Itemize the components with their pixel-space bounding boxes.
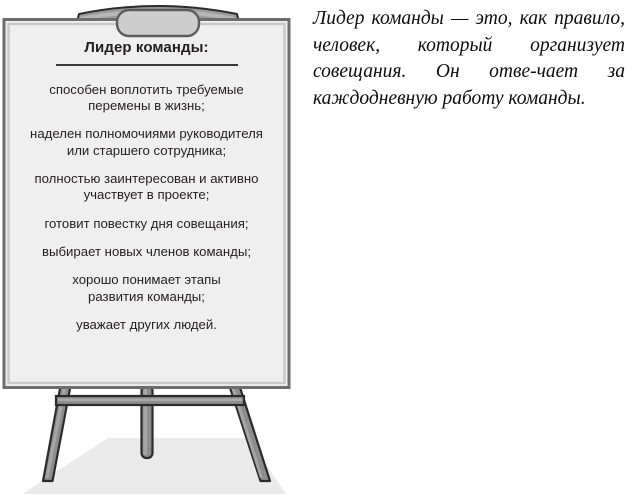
board-title: Лидер команды: bbox=[16, 40, 277, 57]
board-text-content: Лидер команды: способен воплотить требуе… bbox=[8, 24, 285, 384]
floor-shadow-shape bbox=[22, 438, 286, 494]
caption-block: Лидер команды — это, как правило, челове… bbox=[313, 6, 625, 112]
list-item: выбирает новых членов команды; bbox=[16, 244, 277, 260]
list-item: уважает других людей. bbox=[16, 317, 277, 333]
board-attribute-list: способен воплотить требуемые перемены в … bbox=[16, 82, 277, 334]
list-item: полностью заинтересован и активно участв… bbox=[16, 171, 277, 204]
list-item: способен воплотить требуемые перемены в … bbox=[16, 82, 277, 115]
caption-paragraph: Лидер команды — это, как правило, челове… bbox=[313, 6, 625, 112]
list-item: наделен полномочиями руководителя или ст… bbox=[16, 126, 277, 159]
title-underline-rule bbox=[56, 64, 238, 66]
flipchart-easel-illustration: Лидер команды: способен воплотить требуе… bbox=[0, 0, 316, 502]
crossbar-highlight bbox=[58, 399, 242, 402]
list-item: готовит повестку дня совещания; bbox=[16, 216, 277, 232]
list-item: хорошо понимает этапы развития команды; bbox=[16, 272, 277, 305]
